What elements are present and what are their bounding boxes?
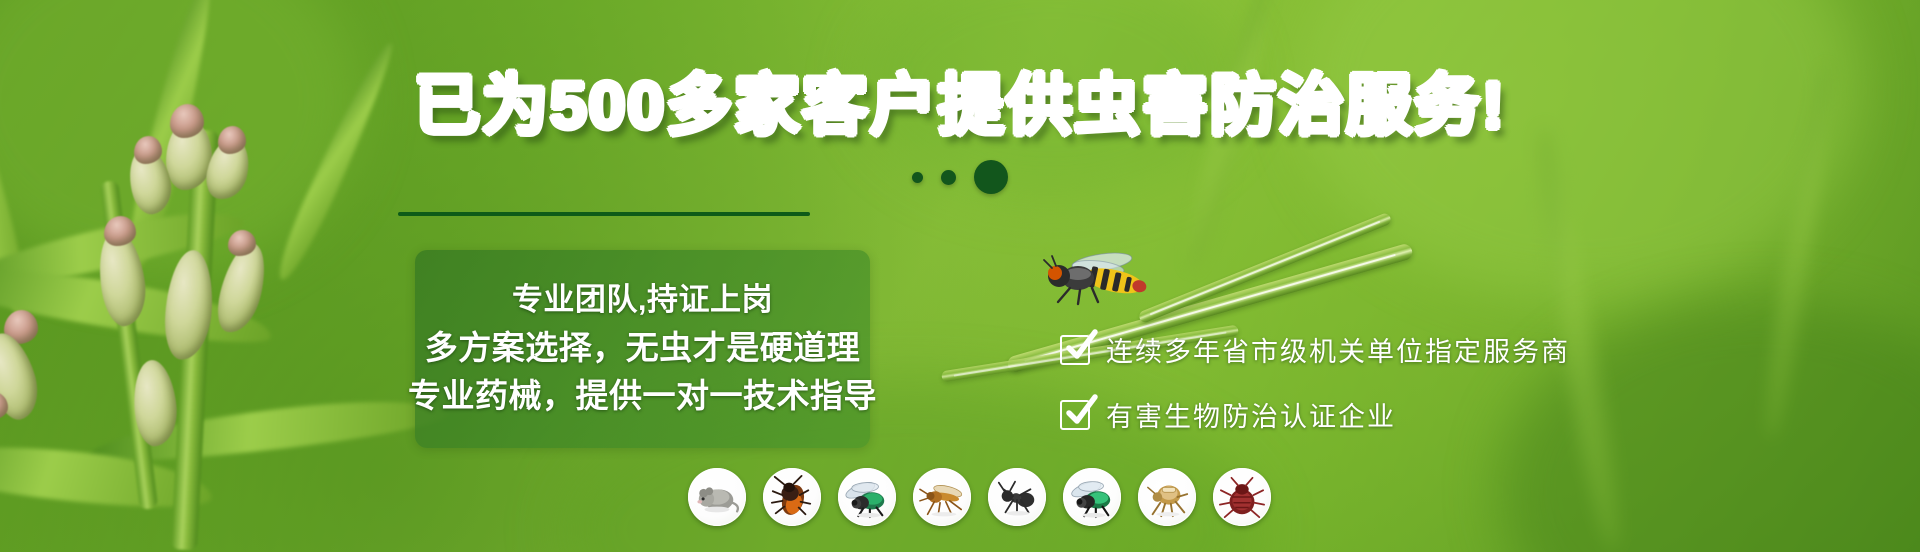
headline-text: 已为500多家客户提供虫害防治服务!: [414, 68, 1506, 142]
flea-icon[interactable]: [1138, 468, 1196, 526]
list-item: 连续多年省市级机关单位指定服务商: [1060, 330, 1570, 369]
feature-panel: 专业团队,持证上岗 多方案选择，无虫才是硬道理 专业药械，提供一对一技术指导: [415, 250, 870, 448]
pest-icon-row: [688, 468, 1271, 526]
mosquito-icon[interactable]: [913, 468, 971, 526]
dot-small: [912, 172, 923, 183]
dot-large: [974, 160, 1008, 194]
credential-label: 连续多年省市级机关单位指定服务商: [1106, 330, 1570, 369]
credential-label: 有害生物防治认证企业: [1106, 395, 1396, 434]
panel-line-1: 专业团队,持证上岗: [512, 284, 773, 317]
hoverfly-insect: [1040, 246, 1160, 310]
dot-medium: [941, 170, 956, 185]
divider-rule: [398, 212, 810, 216]
decorative-dots: [0, 160, 1920, 194]
panel-line-2: 多方案选择，无虫才是硬道理: [425, 331, 861, 366]
list-item: 有害生物防治认证企业: [1060, 395, 1570, 434]
page-title: 已为500多家客户提供虫害防治服务!: [0, 72, 1920, 138]
greenfly-icon[interactable]: [1063, 468, 1121, 526]
checkbox-checked-icon: [1060, 335, 1090, 365]
bokeh-blob: [0, 0, 360, 280]
blowfly-icon[interactable]: [838, 468, 896, 526]
panel-line-3: 专业药械，提供一对一技术指导: [408, 379, 877, 414]
promo-banner: 已为500多家客户提供虫害防治服务! 专业团队,持证上岗 多方案选择，无虫才是硬…: [0, 0, 1920, 552]
mouse-icon[interactable]: [688, 468, 746, 526]
checkbox-checked-icon: [1060, 400, 1090, 430]
ant-icon[interactable]: [988, 468, 1046, 526]
cockroach-icon[interactable]: [763, 468, 821, 526]
bedbug-icon[interactable]: [1213, 468, 1271, 526]
credential-list: 连续多年省市级机关单位指定服务商 有害生物防治认证企业: [1060, 330, 1570, 434]
